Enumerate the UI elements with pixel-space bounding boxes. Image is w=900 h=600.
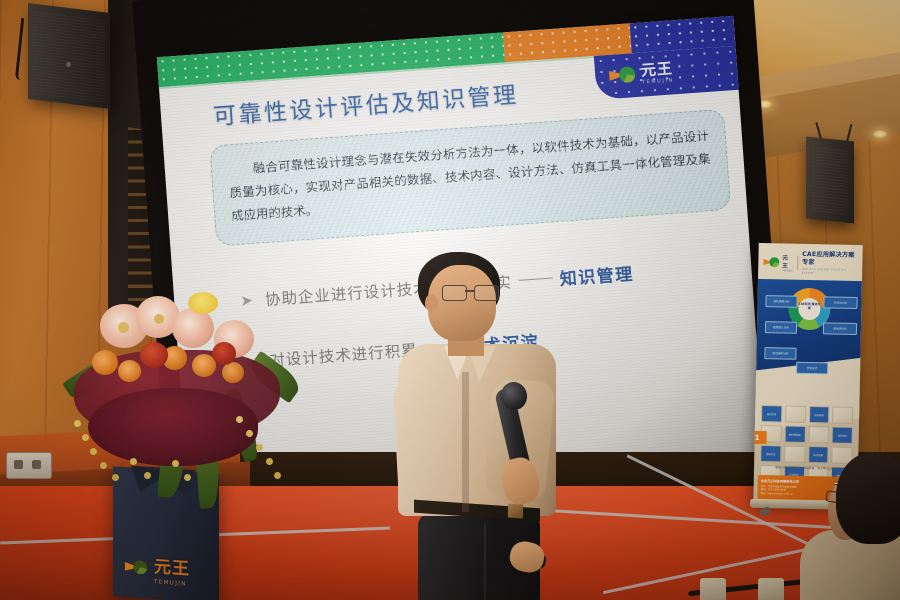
- rollup-chip: 流体热分析: [823, 322, 857, 335]
- rollup-logo-en: TEMUJIN: [782, 269, 793, 272]
- rollup-tile-image: [808, 426, 829, 443]
- rollup-chip: 优化设计: [796, 362, 828, 375]
- shirt-placket: [462, 372, 469, 512]
- wall-speaker-led-icon: [66, 62, 71, 67]
- rollup-chip: 结构强度分析: [765, 295, 797, 308]
- orchid-cluster: [88, 388, 258, 466]
- lily-center: [118, 322, 129, 333]
- orchid-spray: [112, 474, 119, 481]
- rollup-tile-image: [784, 446, 805, 463]
- rollup-logo-cn: 元王: [782, 253, 793, 269]
- orchid-spray: [144, 472, 151, 479]
- rose: [222, 362, 244, 383]
- slide-title: 可靠性设计评估及知识管理: [212, 76, 520, 132]
- rollup-tile: 知识管理: [808, 446, 829, 463]
- pedestal-logo: 元王 TEMUJIN: [123, 550, 190, 588]
- rollup-tile-image: [785, 406, 806, 423]
- rollup-title: CAE应用解决方案专家: [802, 251, 858, 268]
- temujin-logo-icon: [609, 64, 637, 88]
- trouser-seam: [484, 524, 486, 600]
- photo-scene: 元王 TEMUJIN 可靠性设计评估及知识管理 融合可靠性设计理念与潜在失效分析…: [0, 0, 900, 600]
- rollup-donut-label: CAE应用 整体方案: [798, 303, 820, 311]
- slide-logo-en: TEMUJIN: [642, 78, 674, 85]
- slide-logo-cn: 元王: [640, 61, 673, 78]
- rollup-divider: [797, 256, 798, 270]
- orchid-spray: [236, 416, 243, 423]
- orchid-spray: [172, 460, 179, 467]
- rollup-tile-image: [832, 407, 853, 424]
- orchid-spray: [246, 430, 253, 437]
- carnation: [212, 342, 236, 365]
- rollup-tile: 结构仿真: [761, 405, 782, 422]
- wall-socket: [6, 452, 52, 479]
- belt-buckle: [508, 503, 523, 518]
- presenter-face: [428, 265, 496, 341]
- lily: [172, 308, 214, 348]
- orchid-spray: [82, 434, 89, 441]
- rollup-header: 元王 TEMUJIN CAE应用解决方案专家 CAE APPLICATION S…: [758, 249, 863, 277]
- orchid-spray: [256, 444, 263, 451]
- rollup-number-badge: 01: [753, 431, 767, 444]
- audience-member-head: [836, 452, 900, 544]
- orchid-spray: [274, 472, 281, 479]
- orchid-spray: [74, 420, 81, 427]
- rollup-tile-grid: 结构仿真 流程管理 材料数据库 试验验证 定制开发 知识管理 培训服务 技术咨询: [760, 405, 854, 484]
- slide-paragraph-box: 融合可靠性设计理念与潜在失效分析方法为一体，以软件技术为基础，以产品设计质量为核…: [209, 109, 731, 246]
- ceiling-speaker: [806, 136, 854, 223]
- rollup-tile: 流程管理: [808, 406, 829, 423]
- rollup-subtitle: CAE APPLICATION SOLUTION EXPERT: [802, 267, 857, 276]
- presenter-ear: [425, 294, 438, 312]
- wall-speaker: [28, 3, 110, 109]
- rollup-tile: 材料数据库: [784, 426, 805, 443]
- pedestal-logo-cn: 元王: [154, 552, 190, 580]
- rollup-chip: 多体动力学: [823, 296, 857, 309]
- rollup-tile: 试验验证: [832, 427, 853, 444]
- orchid-spray: [100, 462, 107, 469]
- temujin-logo-icon: [125, 557, 147, 577]
- downlight-icon: [872, 130, 888, 139]
- rollup-tile: 定制开发: [760, 445, 781, 462]
- carnation: [140, 342, 168, 368]
- lily-center: [154, 314, 164, 324]
- orchid-spray: [130, 458, 137, 465]
- slide-logo-badge: 元王 TEMUJIN: [594, 46, 739, 100]
- pedestal-logo-en: TEMUJIN: [154, 579, 190, 588]
- rose: [92, 350, 118, 375]
- chair-back: [758, 578, 784, 600]
- temujin-logo-icon: [763, 256, 778, 269]
- presenter: [392, 252, 572, 600]
- rollup-chip: 疲劳耐久分析: [765, 321, 797, 334]
- slide-paragraph: 融合可靠性设计理念与潜在失效分析方法为一体，以软件技术为基础，以产品设计质量为核…: [227, 125, 713, 228]
- orchid-spray: [90, 448, 97, 455]
- rollup-chip: 振动噪声分析: [764, 347, 796, 360]
- flower-arrangement: [66, 292, 316, 507]
- chair-back: [700, 578, 726, 600]
- orchid-spray: [266, 458, 273, 465]
- rose: [118, 360, 141, 382]
- yellow-bloom: [188, 292, 218, 314]
- glasses-icon: [442, 285, 498, 300]
- orchid-spray: [184, 474, 191, 481]
